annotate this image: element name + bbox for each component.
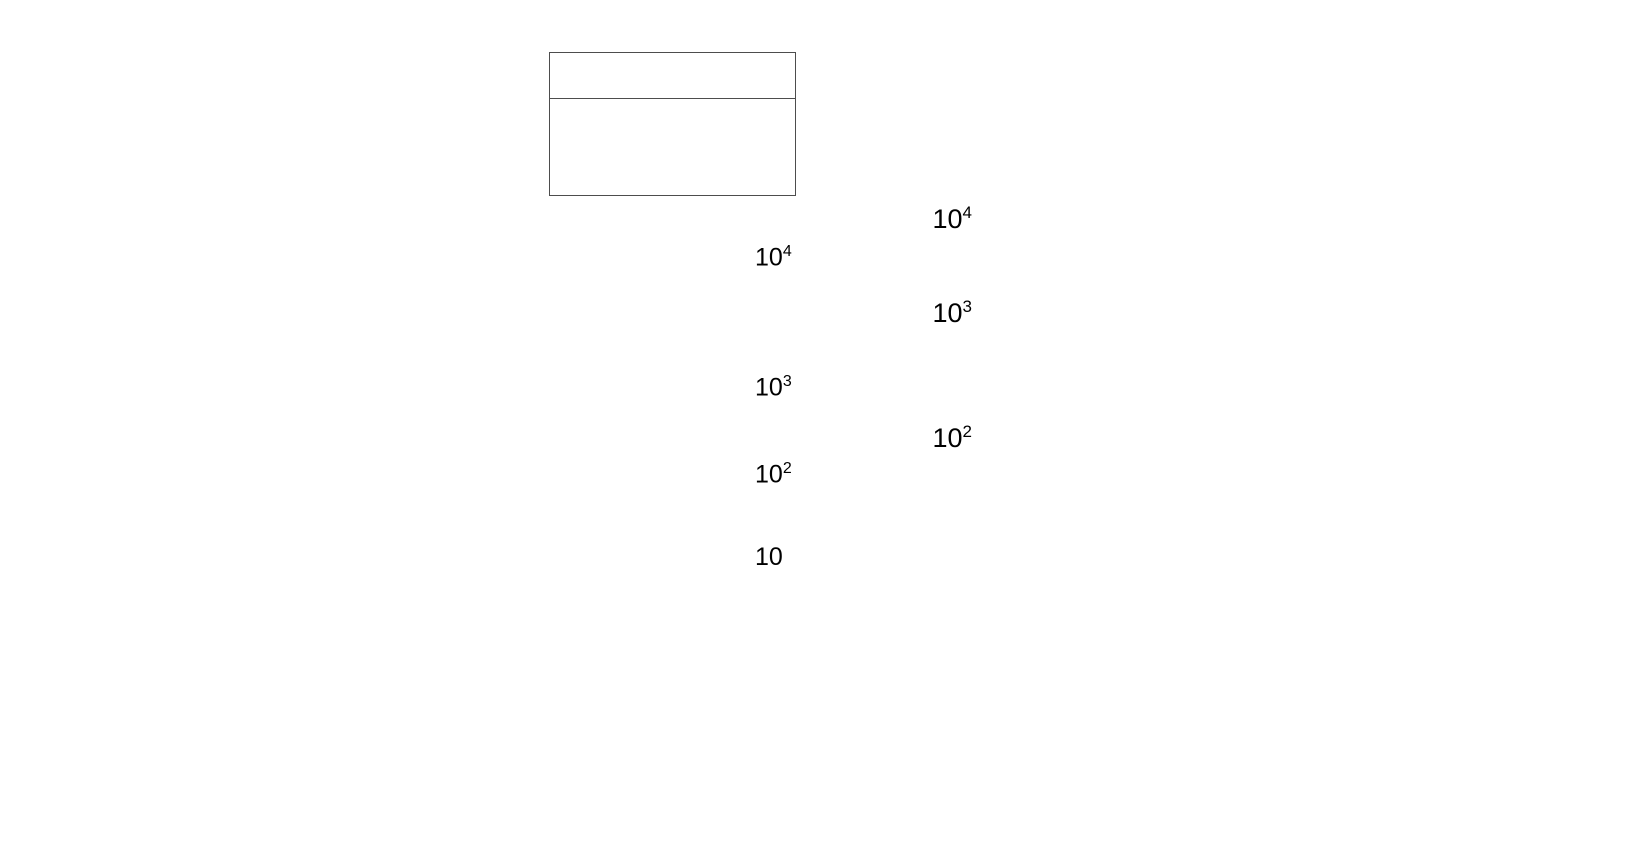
right-plot-panel: 104 103 102: [820, 0, 1640, 851]
y-tick-label: 103: [880, 297, 972, 329]
left-plot-panel: 104 103 102 10: [0, 0, 820, 851]
y-tick-label: 104: [880, 203, 972, 235]
colorbar-tick-label: 102: [755, 460, 792, 489]
stats-box-left[interactable]: [549, 52, 796, 196]
y-tick-label: 102: [880, 422, 972, 454]
stats-row: [550, 147, 795, 195]
stats-histogram-name: [550, 53, 795, 99]
colorbar-tick-label: 103: [755, 373, 792, 402]
colorbar-tick-label: 104: [755, 243, 792, 272]
colorbar-tick-label: 10: [755, 543, 783, 572]
stats-row: [550, 99, 795, 147]
